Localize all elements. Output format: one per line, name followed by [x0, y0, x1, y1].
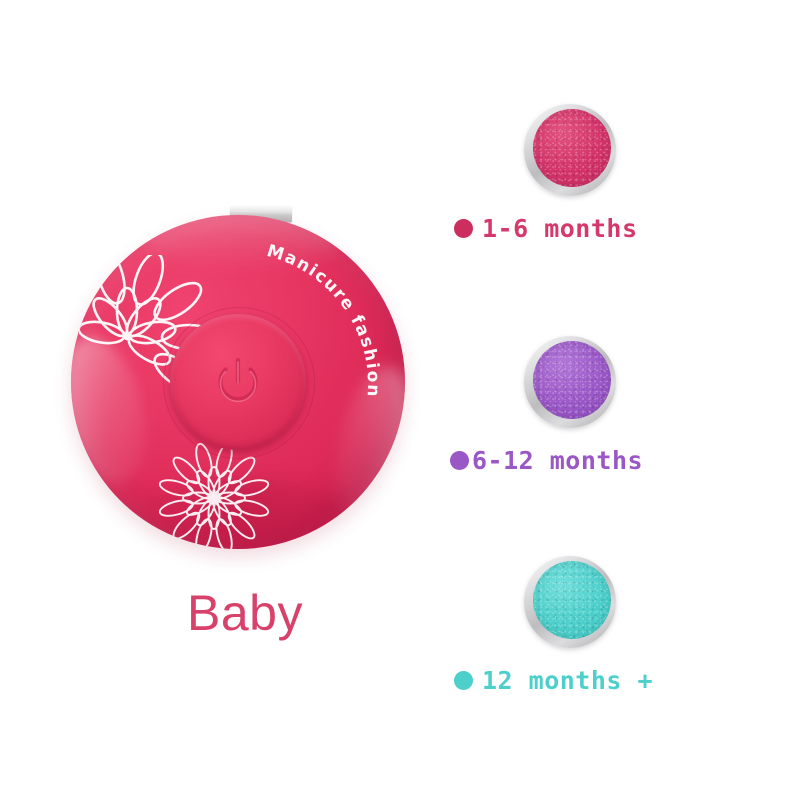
flower-pattern-lower-center: [149, 440, 279, 549]
device-shell: Manicure fashion: [71, 215, 405, 549]
gloss-highlight-right: [323, 360, 405, 536]
disc-label-text-2: 6-12 months: [472, 448, 643, 473]
product-device: Manicure fashion: [55, 205, 435, 585]
shadow-bottom: [111, 479, 371, 549]
disc-label-text-1: 1-6 months: [482, 216, 638, 241]
product-caption: Baby: [55, 588, 435, 638]
bullet-dot-icon-3: [454, 671, 473, 690]
disc-label-1: 1-6 months: [454, 216, 638, 241]
sanding-disc-3[interactable]: [524, 556, 616, 648]
disc-label-2: 6-12 months: [450, 448, 643, 473]
disc-pad-1: [533, 109, 611, 187]
disc-pad-2: [533, 341, 611, 419]
disc-item-3: 12 months +: [440, 556, 740, 648]
gloss-highlight-top: [141, 215, 341, 271]
product-image-canvas: Manicure fashion Baby: [0, 0, 800, 800]
power-icon: [208, 352, 268, 412]
disc-item-1: 1-6 months: [440, 104, 740, 196]
disc-label-3: 12 months +: [454, 668, 653, 693]
disc-grit-texture-1: [533, 109, 611, 187]
disc-item-2: 6-12 months: [440, 336, 740, 428]
disc-label-text-3: 12 months +: [482, 668, 653, 693]
bullet-dot-icon-2: [450, 451, 469, 470]
sanding-disc-2[interactable]: [524, 336, 616, 428]
disc-grit-texture-3: [533, 561, 611, 639]
power-button[interactable]: [170, 314, 306, 450]
gloss-highlight-left: [71, 328, 160, 492]
sanding-disc-1[interactable]: [524, 104, 616, 196]
disc-grit-texture-2: [533, 341, 611, 419]
disc-pad-3: [533, 561, 611, 639]
bullet-dot-icon-1: [454, 219, 473, 238]
